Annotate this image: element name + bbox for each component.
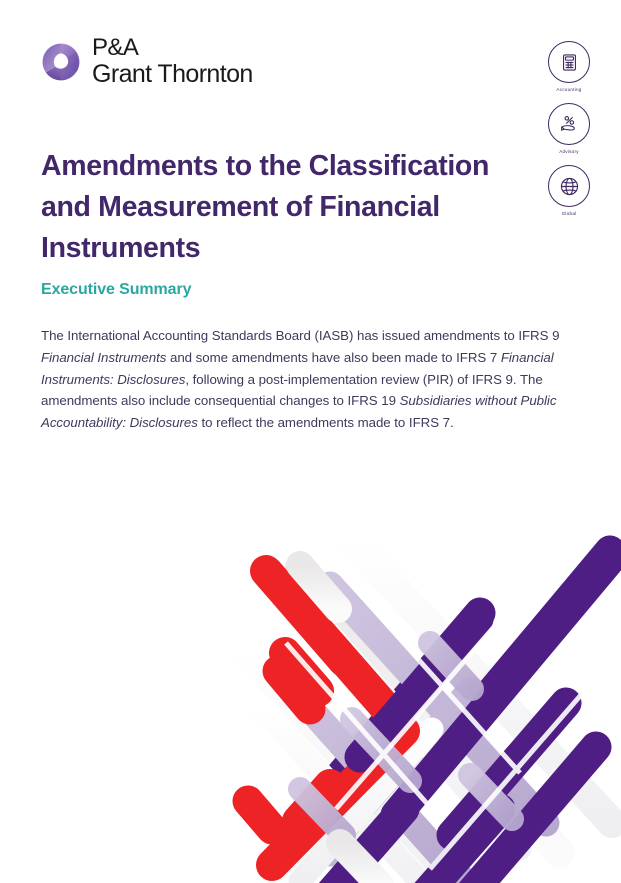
service-icon-accounting: Accounting	[548, 41, 590, 83]
logo-wordmark: P&A Grant Thornton	[92, 36, 253, 87]
logo-line-grant-thornton: Grant Thornton	[92, 62, 253, 87]
calculator-icon	[548, 41, 590, 83]
executive-summary-paragraph: The International Accounting Standards B…	[41, 325, 574, 434]
summary-italic-ifrs9-title: Financial Instruments	[41, 350, 166, 365]
logo-line-pa: P&A	[92, 36, 253, 60]
service-icon-label: Advisory	[558, 149, 580, 154]
service-icon-group: Accounting Advisory	[548, 41, 590, 207]
summary-text-d: to reflect the amendments made to IFRS 7…	[198, 415, 454, 430]
globe-icon	[548, 165, 590, 207]
service-icon-label: Global	[561, 211, 578, 216]
page-title: Amendments to the Classification and Mea…	[41, 146, 521, 269]
percent-hand-icon	[548, 103, 590, 145]
service-icon-advisory: Advisory	[548, 103, 590, 145]
service-icon-label: Accounting	[555, 87, 582, 92]
service-icon-global: Global	[548, 165, 590, 207]
document-page: P&A Grant Thornton Accounting	[0, 0, 621, 883]
section-heading-executive-summary: Executive Summary	[41, 281, 191, 299]
summary-text-b: and some amendments have also been made …	[166, 350, 501, 365]
summary-text-a: The International Accounting Standards B…	[41, 328, 559, 343]
brand-logo: P&A Grant Thornton	[41, 36, 253, 87]
grant-thornton-swirl-icon	[41, 42, 81, 82]
grant-thornton-diagonal-bars-graphic	[0, 523, 621, 883]
